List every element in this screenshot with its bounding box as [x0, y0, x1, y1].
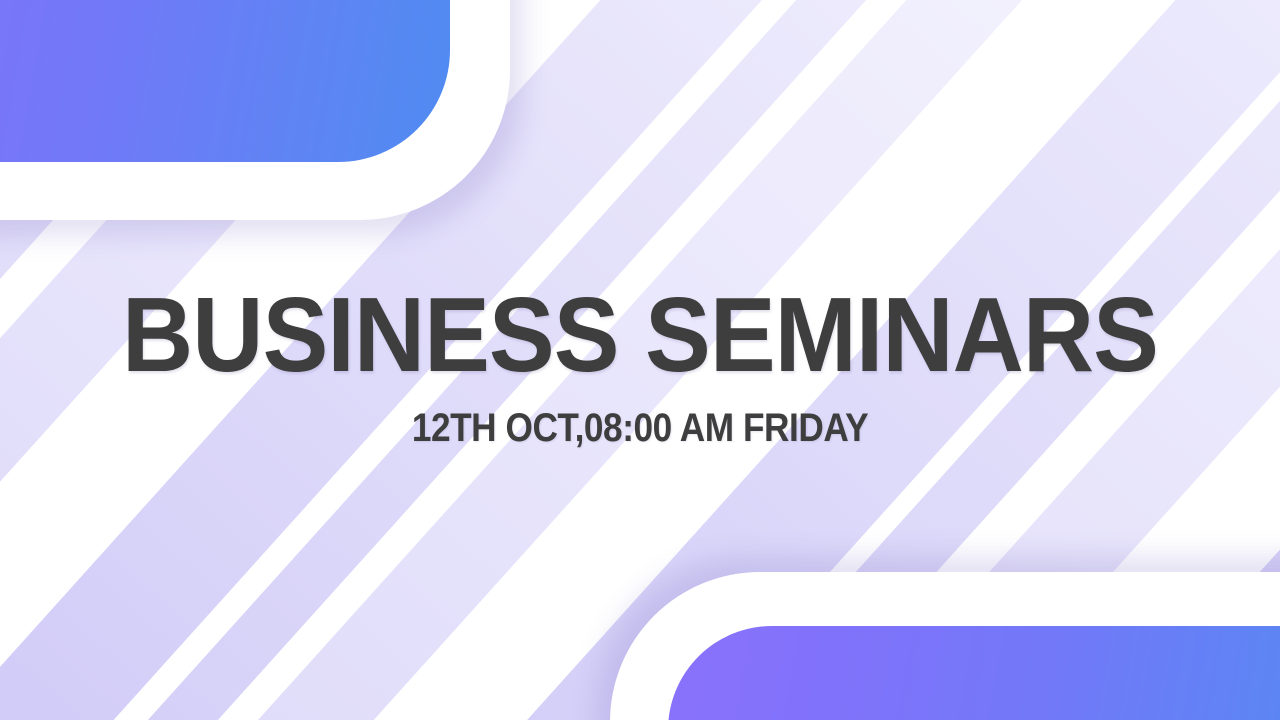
headline-block: BUSINESS SEMINARS 12TH OCT,08:00 AM FRID… [0, 282, 1280, 448]
event-title: BUSINESS SEMINARS [45, 282, 1235, 388]
bottom-right-gradient-panel [668, 626, 1280, 720]
event-datetime: 12TH OCT,08:00 AM FRIDAY [77, 408, 1203, 448]
top-left-gradient-panel [0, 0, 450, 162]
business-seminars-banner: BUSINESS SEMINARS 12TH OCT,08:00 AM FRID… [0, 0, 1280, 720]
